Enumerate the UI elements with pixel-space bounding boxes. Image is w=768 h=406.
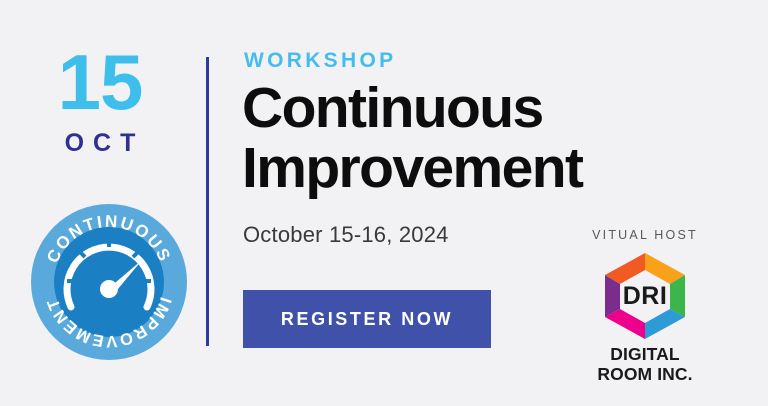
page-title: Continuous Improvement [242,78,672,199]
host-name-line-2: ROOM INC. [560,365,730,385]
vertical-divider [206,57,209,346]
event-promo-banner: 15 OCT CONTINUOUS IMPROVEMENT [0,0,768,406]
virtual-host-label: VITUAL HOST [560,228,730,242]
event-date-block: 15 OCT [0,45,200,158]
virtual-host-block: VITUAL HOST DRI DIGITAL ROOM INC. [560,228,730,384]
workshop-eyebrow-label: WORKSHOP [244,49,396,73]
event-month-label: OCT [0,129,200,158]
continuous-improvement-seal: CONTINUOUS IMPROVEMENT [30,203,188,361]
register-now-button[interactable]: REGISTER NOW [243,290,491,348]
host-company-name: DIGITAL ROOM INC. [560,345,730,384]
dri-hexagon-logo-icon: DRI [560,251,730,339]
host-name-line-1: DIGITAL [560,345,730,365]
event-date-range: October 15-16, 2024 [243,222,449,248]
event-day-number: 15 [0,45,200,119]
headline-line-2: Improvement [242,138,672,198]
headline-line-1: Continuous [242,78,672,138]
svg-text:DRI: DRI [623,282,668,310]
